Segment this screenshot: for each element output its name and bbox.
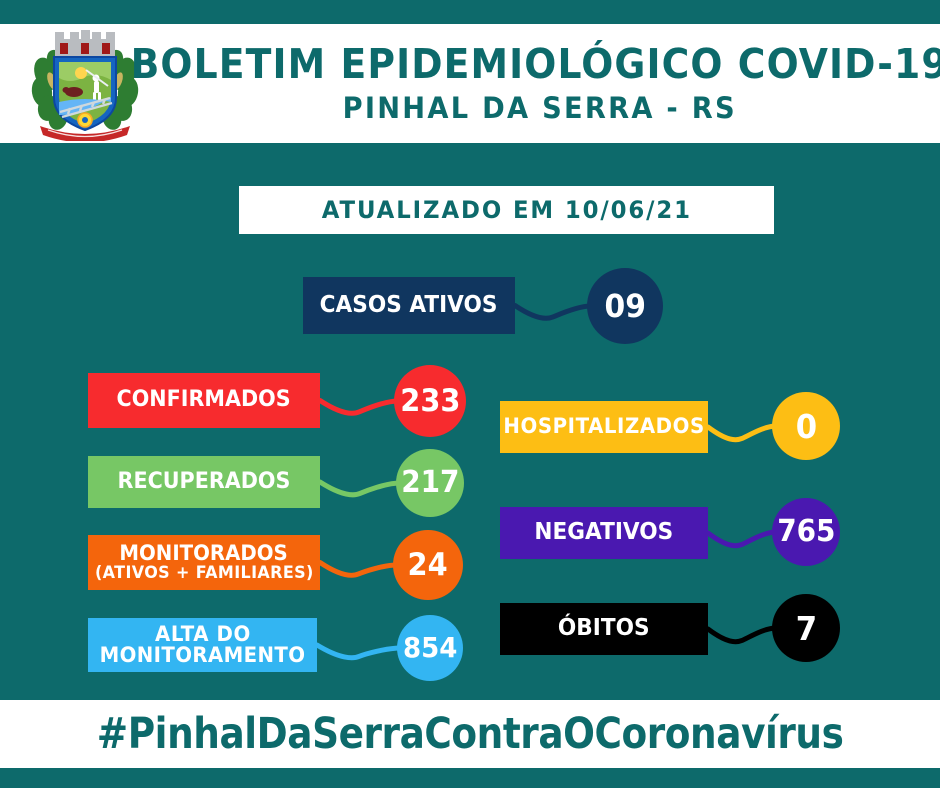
page-subtitle: PINHAL DA SERRA - RS (343, 94, 737, 123)
header-titles: BOLETIM EPIDEMIOLÓGICO COVID-19 PINHAL D… (150, 24, 930, 143)
footer-band: #PinhalDaSerraContraOCoronavírus (0, 700, 940, 768)
stat-value-monitorados: 24 (408, 550, 448, 581)
stat-value-bubble-alta-monitoramento[interactable]: 854 (397, 615, 463, 681)
stat-value-bubble-recuperados[interactable]: 217 (396, 449, 464, 517)
stat-value-bubble-hospitalizados[interactable]: 0 (772, 392, 840, 460)
stat-value-hospitalizados: 0 (795, 410, 816, 443)
stat-value-obitos: 7 (795, 612, 816, 645)
stat-value-bubble-casos-ativos[interactable]: 09 (587, 268, 663, 344)
stat-label-box-alta-monitoramento[interactable]: ALTA DOMONITORAMENTO (88, 618, 317, 672)
stat-label-monitorados: MONITORADOS (120, 543, 288, 564)
stat-value-casos-ativos: 09 (604, 290, 645, 322)
stat-value-negativos: 765 (777, 517, 835, 547)
stat-sublabel-alta-monitoramento: MONITORAMENTO (100, 645, 306, 666)
stat-label-box-recuperados[interactable]: RECUPERADOS (88, 456, 320, 508)
stat-label-box-casos-ativos[interactable]: CASOS ATIVOS (303, 277, 515, 334)
stat-value-bubble-obitos[interactable]: 7 (772, 594, 840, 662)
stat-value-bubble-confirmados[interactable]: 233 (394, 365, 466, 437)
stat-label-hospitalizados: HOSPITALIZADOS (503, 416, 704, 437)
stat-label-recuperados: RECUPERADOS (118, 471, 291, 493)
stat-label-box-confirmados[interactable]: CONFIRMADOS (88, 373, 320, 428)
top-accent-strip (0, 0, 940, 24)
stat-value-recuperados: 217 (401, 468, 459, 498)
stat-label-box-hospitalizados[interactable]: HOSPITALIZADOS (500, 401, 708, 453)
stat-label-box-obitos[interactable]: ÓBITOS (500, 603, 708, 655)
header-band: BOLETIM EPIDEMIOLÓGICO COVID-19 PINHAL D… (0, 24, 940, 143)
stat-label-negativos: NEGATIVOS (535, 521, 674, 544)
stat-value-bubble-negativos[interactable]: 765 (772, 498, 840, 566)
stat-label-box-monitorados[interactable]: MONITORADOS(ATIVOS + FAMILIARES) (88, 535, 320, 590)
update-date-banner: ATUALIZADO EM 10/06/21 (239, 186, 774, 234)
stat-label-casos-ativos: CASOS ATIVOS (320, 294, 498, 317)
stat-value-bubble-monitorados[interactable]: 24 (393, 530, 463, 600)
page-title: BOLETIM EPIDEMIOLÓGICO COVID-19 (131, 44, 940, 85)
bottom-accent-strip (0, 768, 940, 788)
stat-label-alta-monitoramento: ALTA DO (155, 624, 251, 645)
campaign-hashtag: #PinhalDaSerraContraOCoronavírus (97, 709, 844, 759)
stat-label-obitos: ÓBITOS (558, 617, 650, 640)
stat-label-box-negativos[interactable]: NEGATIVOS (500, 507, 708, 559)
stat-label-confirmados: CONFIRMADOS (117, 389, 291, 411)
update-date-text: ATUALIZADO EM 10/06/21 (321, 196, 691, 224)
coat-of-arms-icon (24, 26, 146, 141)
stat-sublabel-monitorados: (ATIVOS + FAMILIARES) (95, 565, 314, 582)
stat-value-alta-monitoramento: 854 (403, 634, 457, 662)
stat-value-confirmados: 233 (400, 386, 460, 417)
